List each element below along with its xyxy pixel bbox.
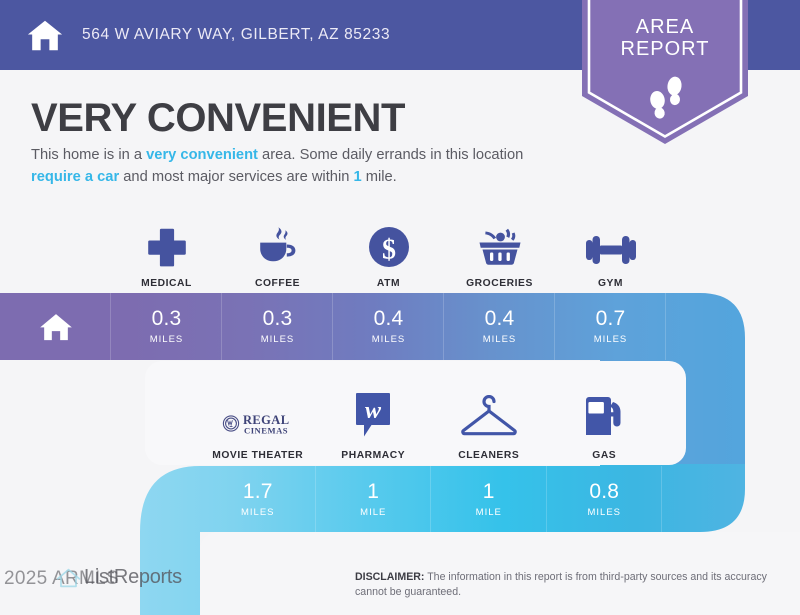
- amenity-coffee: COFFEE: [222, 211, 333, 289]
- summary-highlight-1: very convenient: [146, 147, 258, 163]
- distance-unit: MILE: [476, 507, 502, 518]
- distance-cells-row-2: 1.7 MILES 1 MILE 1 MILE 0.8 MILES: [200, 466, 662, 532]
- cell-divider: [665, 293, 666, 360]
- distance-cell-gas: 0.8 MILES: [547, 466, 663, 532]
- svg-text:w: w: [365, 398, 382, 424]
- amenity-label: GROCERIES: [466, 278, 533, 289]
- amenity-label: GYM: [598, 278, 623, 289]
- distance-unit: MILES: [372, 334, 406, 345]
- dumbbell-icon: [585, 223, 637, 269]
- distance-cells-row-1: 0.3 MILES 0.3 MILES 0.4 MILES 0.4 MILES …: [0, 293, 666, 360]
- clothes-hanger-icon: [459, 393, 519, 439]
- cell-divider: [661, 466, 662, 532]
- property-address: 564 W AVIARY WAY, GILBERT, AZ 85233: [82, 26, 390, 44]
- summary-part-4: mile.: [362, 169, 397, 185]
- summary-highlight-2: require a car: [31, 169, 119, 185]
- amenity-movie-theater: REGAL CINEMAS MOVIE THEATER: [200, 366, 316, 461]
- distance-value: 1: [483, 481, 495, 502]
- summary-part-2: area. Some daily errands in this locatio…: [258, 147, 523, 163]
- amenity-label: CLEANERS: [458, 450, 519, 461]
- summary-part-3: and most major services are within: [119, 169, 353, 185]
- house-outline-icon: [56, 567, 81, 589]
- listreports-watermark: ListReports: [56, 566, 182, 589]
- amenity-groceries: GROCERIES: [444, 211, 555, 289]
- badge-line-2: REPORT: [570, 38, 760, 60]
- amenity-gas: GAS: [547, 366, 663, 461]
- distance-cell-groceries: 0.4 MILES: [444, 293, 555, 360]
- distance-unit: MILES: [150, 334, 184, 345]
- distance-cell-gym: 0.7 MILES: [555, 293, 666, 360]
- distance-value: 1: [367, 481, 379, 502]
- amenity-gym: GYM: [555, 211, 666, 289]
- distance-value: 0.4: [485, 308, 515, 329]
- summary-part-1: This home is in a: [31, 147, 146, 163]
- amenity-icons-row-1: MEDICAL COFFEE $: [111, 211, 666, 289]
- badge-line-1: AREA: [570, 16, 760, 38]
- distance-cell-medical: 0.3 MILES: [111, 293, 222, 360]
- regal-cinemas-logo: REGAL CINEMAS: [219, 393, 297, 439]
- amenity-label: GAS: [592, 450, 616, 461]
- medical-cross-icon: [146, 223, 188, 269]
- amenity-cleaners: CLEANERS: [431, 366, 547, 461]
- distance-cell-movie-theater: 1.7 MILES: [200, 466, 316, 532]
- distance-value: 0.3: [152, 308, 182, 329]
- page-title: VERY CONVENIENT: [31, 96, 405, 141]
- walgreens-w-icon: w: [351, 393, 395, 439]
- coffee-cup-icon: [255, 223, 301, 269]
- amenity-label: ATM: [377, 278, 400, 289]
- distance-unit: MILES: [483, 334, 517, 345]
- amenity-label: MEDICAL: [141, 278, 192, 289]
- distance-unit: MILES: [587, 507, 621, 518]
- distance-unit: MILES: [261, 334, 295, 345]
- subject-home-cell: [0, 293, 111, 360]
- amenity-atm: $ ATM: [333, 211, 444, 289]
- distance-value: 0.4: [374, 308, 404, 329]
- amenity-label: MOVIE THEATER: [212, 450, 303, 461]
- amenity-label: COFFEE: [255, 278, 300, 289]
- distance-unit: MILES: [241, 507, 275, 518]
- listreports-label: ListReports: [84, 566, 182, 589]
- summary-text: This home is in a very convenient area. …: [31, 145, 576, 188]
- area-report-infographic: 564 W AVIARY WAY, GILBERT, AZ 85233 AREA…: [0, 0, 800, 615]
- badge-label: AREA REPORT: [570, 16, 760, 61]
- atm-dollar-icon: $: [367, 223, 411, 269]
- svg-text:$: $: [382, 235, 396, 266]
- distance-cell-cleaners: 1 MILE: [431, 466, 547, 532]
- summary-highlight-3: 1: [353, 169, 361, 185]
- area-report-badge: AREA REPORT: [570, 0, 760, 148]
- distance-value: 1.7: [243, 481, 273, 502]
- house-icon: [26, 16, 64, 54]
- distance-unit: MILES: [594, 334, 628, 345]
- regal-line-2: CINEMAS: [244, 426, 288, 436]
- disclaimer-text: DISCLAIMER: The information in this repo…: [355, 570, 785, 600]
- gas-pump-icon: [580, 393, 628, 439]
- amenity-medical: MEDICAL: [111, 211, 222, 289]
- distance-value: 0.7: [596, 308, 626, 329]
- amenity-label: PHARMACY: [341, 450, 405, 461]
- disclaimer-label: DISCLAIMER:: [355, 571, 424, 583]
- distance-value: 0.8: [589, 481, 619, 502]
- amenity-icons-row-2: REGAL CINEMAS MOVIE THEATER w PHARMACY: [200, 366, 662, 461]
- amenity-pharmacy: w PHARMACY: [316, 366, 432, 461]
- house-icon: [39, 312, 73, 342]
- distance-cell-atm: 0.4 MILES: [333, 293, 444, 360]
- distance-cell-pharmacy: 1 MILE: [316, 466, 432, 532]
- grocery-basket-icon: [475, 223, 525, 269]
- distance-unit: MILE: [360, 507, 386, 518]
- distance-cell-coffee: 0.3 MILES: [222, 293, 333, 360]
- distance-value: 0.3: [263, 308, 293, 329]
